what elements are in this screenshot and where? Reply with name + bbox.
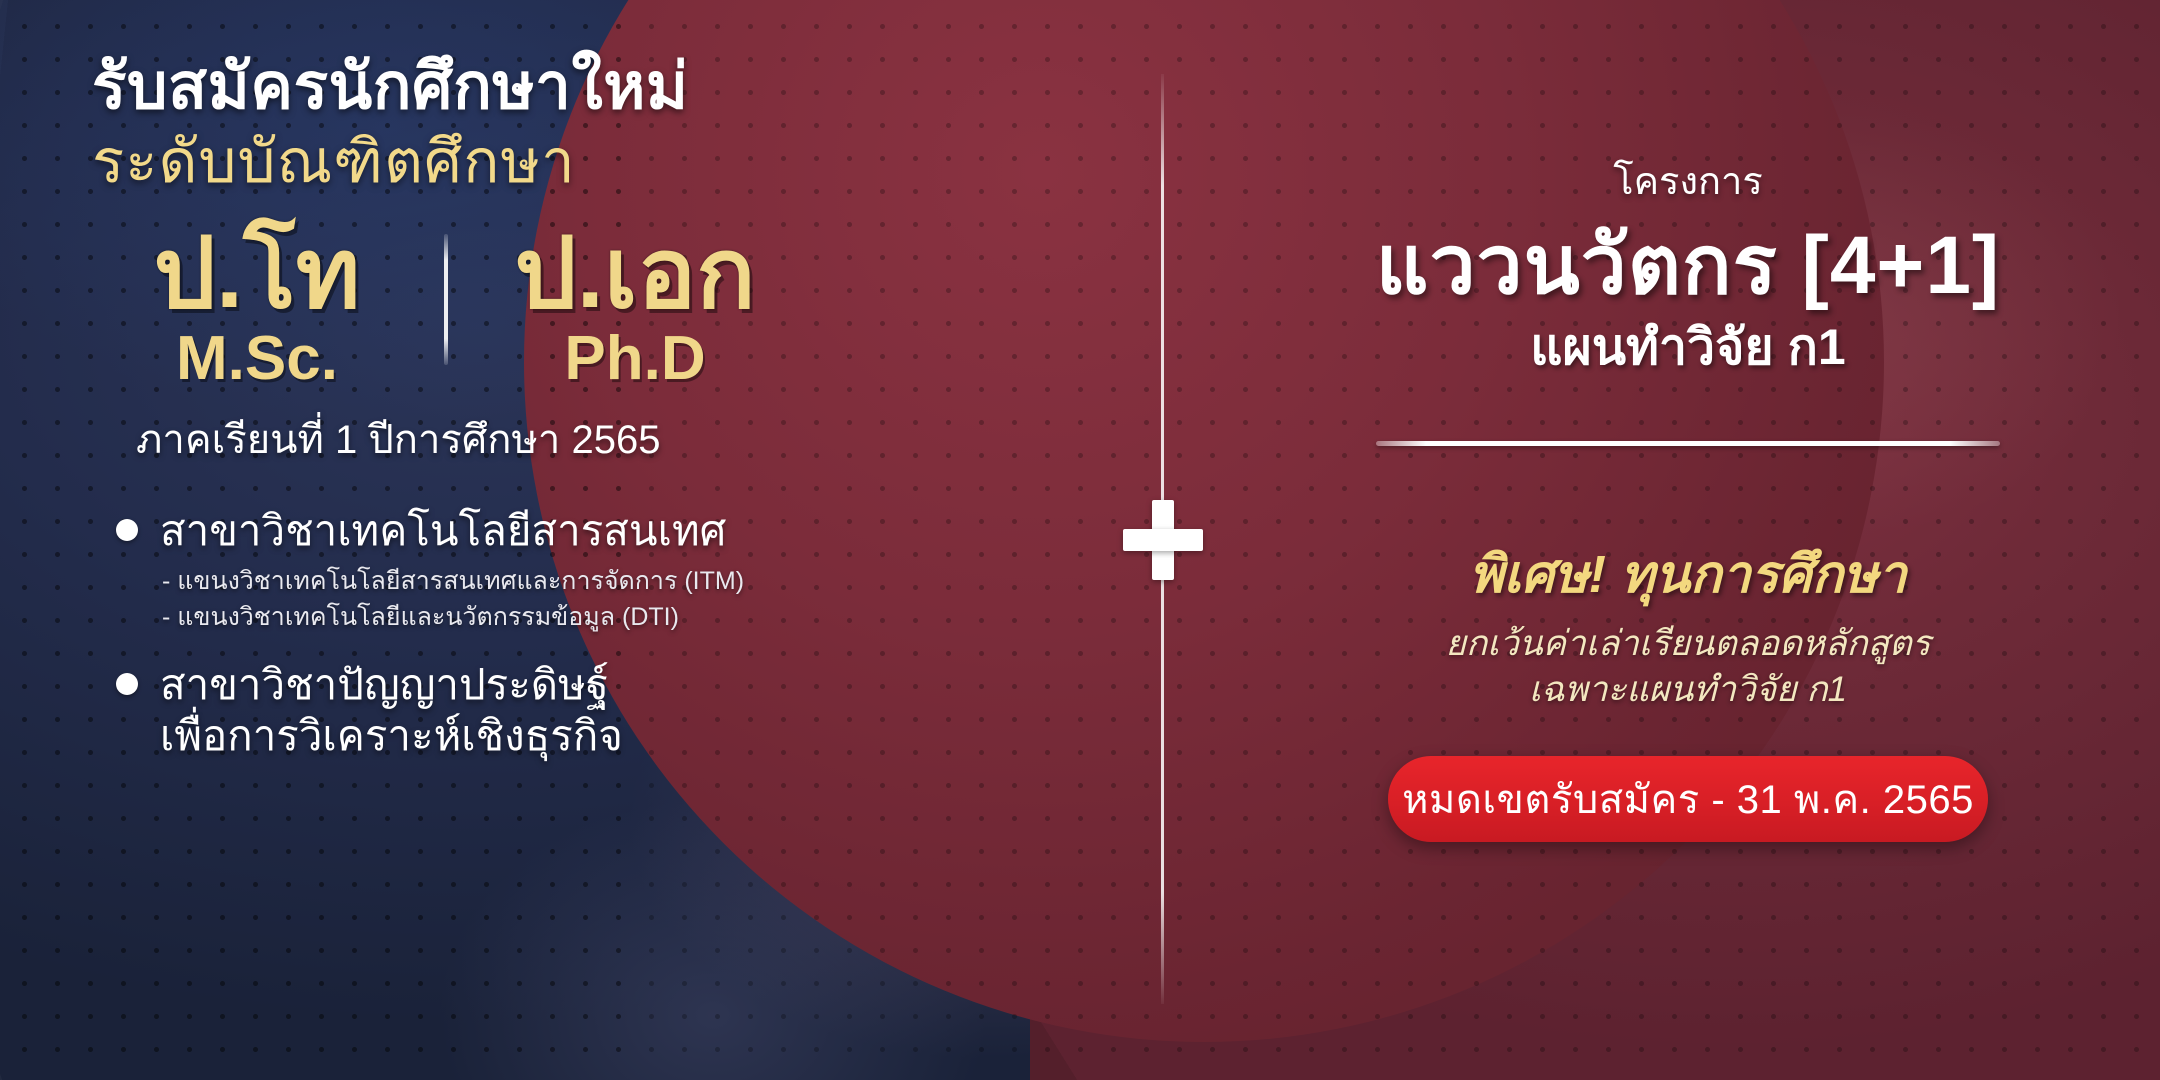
program-track-list-it: - แขนงวิชาเทคโนโลยีสารสนเทศและการจัดการ …: [162, 564, 1000, 635]
program-track-dti: - แขนงวิชาเทคโนโลยีและนวัตกรรมข้อมูล (DT…: [162, 600, 1000, 636]
scholarship-note-line2: เฉพาะแผนทำวิจัย ก1: [1216, 667, 2160, 713]
admissions-banner: รับสมัครนักศึกษาใหม่ ระดับบัณฑิตศึกษา ป.…: [0, 0, 2160, 1080]
degree-masters: ป.โท M.Sc.: [92, 224, 422, 391]
program-list: สาขาวิชาเทคโนโลยีสารสนเทศ - แขนงวิชาเทคโ…: [92, 505, 1000, 762]
scholarship-heading: พิเศษ! ทุนการศึกษา: [1216, 532, 2160, 615]
degree-doctorate-english: Ph.D: [470, 326, 800, 391]
degree-doctorate: ป.เอก Ph.D: [470, 224, 800, 391]
project-subtitle: แผนทำวิจัย ก1: [1216, 317, 2160, 377]
program-name-ai-wrapper: สาขาวิชาปัญญาประดิษฐ์ เพื่อการวิเคราะห์เ…: [160, 659, 623, 761]
left-column: รับสมัครนักศึกษาใหม่ ระดับบัณฑิตศึกษา ป.…: [0, 0, 1040, 1080]
right-horizontal-divider: [1376, 441, 2000, 446]
scholarship-note-line1: ยกเว้นค่าเล่าเรียนตลอดหลักสูตร: [1216, 621, 2160, 667]
bullet-dot-icon: [116, 673, 138, 695]
deadline-text: หมดเขตรับสมัคร - 31 พ.ค. 2565: [1402, 767, 1974, 831]
headline-primary: รับสมัครนักศึกษาใหม่: [92, 52, 1000, 121]
program-item-it: สาขาวิชาเทคโนโลยีสารสนเทศ: [92, 505, 1000, 556]
program-name-ai-line2: เพื่อการวิเคราะห์เชิงธุรกิจ: [160, 710, 623, 761]
plus-icon: [1123, 500, 1203, 580]
program-item-ai: สาขาวิชาปัญญาประดิษฐ์ เพื่อการวิเคราะห์เ…: [92, 659, 1000, 761]
bullet-dot-icon: [116, 519, 138, 541]
semester-text: ภาคเรียนที่ 1 ปีการศึกษา 2565: [136, 407, 1000, 471]
degree-masters-english: M.Sc.: [92, 326, 422, 391]
program-name-it: สาขาวิชาเทคโนโลยีสารสนเทศ: [160, 505, 726, 556]
banner-content: รับสมัครนักศึกษาใหม่ ระดับบัณฑิตศึกษา ป.…: [0, 0, 2160, 1080]
headline-secondary: ระดับบัณฑิตศึกษา: [92, 127, 1000, 198]
right-column: โครงการ แววนวัตกร [4+1] แผนทำวิจัย ก1 พิ…: [1216, 0, 2160, 1080]
project-kicker: โครงการ: [1216, 150, 2160, 211]
degree-divider: [444, 234, 448, 365]
degree-masters-thai: ป.โท: [92, 224, 422, 322]
program-name-ai-line1: สาขาวิชาปัญญาประดิษฐ์: [160, 659, 623, 710]
degree-doctorate-thai: ป.เอก: [470, 224, 800, 322]
project-title: แววนวัตกร [4+1]: [1216, 221, 2160, 311]
program-track-itm: - แขนงวิชาเทคโนโลยีสารสนเทศและการจัดการ …: [162, 564, 1000, 600]
deadline-badge[interactable]: หมดเขตรับสมัคร - 31 พ.ค. 2565: [1388, 756, 1988, 842]
degree-group: ป.โท M.Sc. ป.เอก Ph.D: [92, 224, 1000, 391]
